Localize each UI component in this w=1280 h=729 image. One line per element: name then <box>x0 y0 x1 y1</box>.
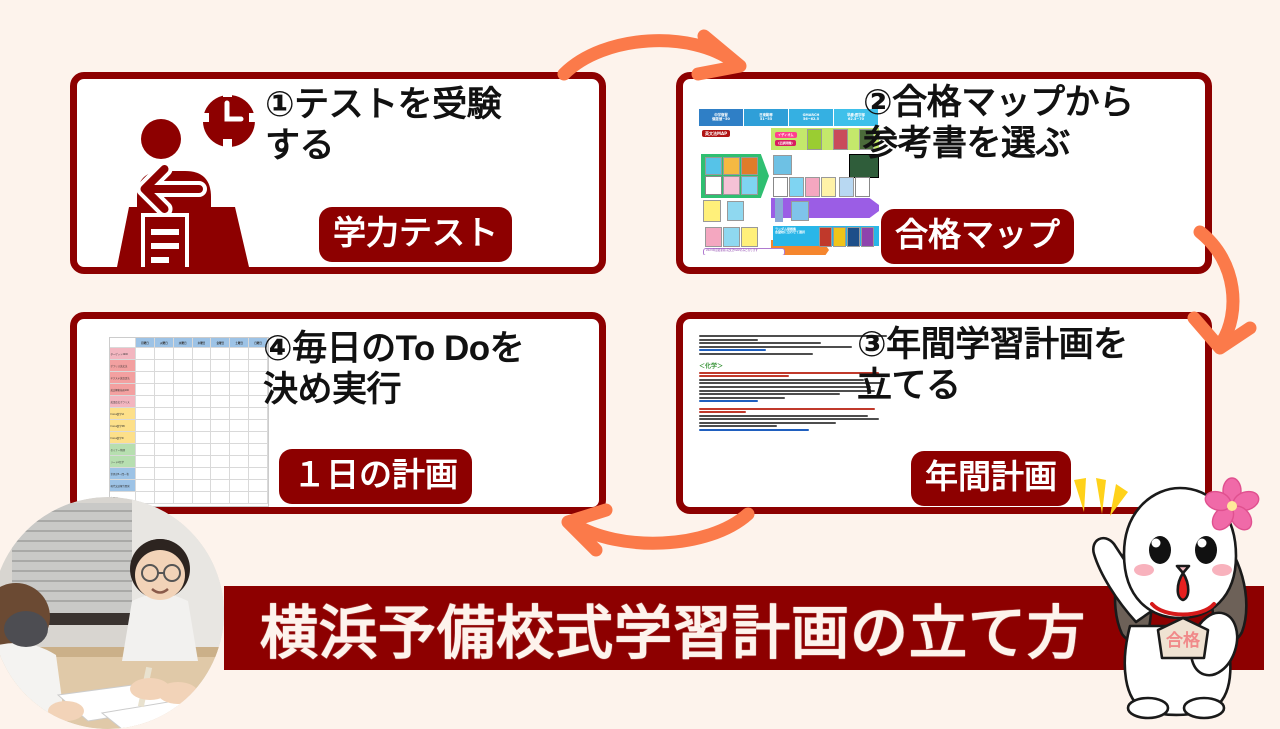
pass-map-book <box>773 155 792 175</box>
pass-map-book <box>705 227 722 247</box>
pass-map-book <box>705 157 722 175</box>
pass-map-book <box>703 200 721 222</box>
pass-map-book <box>861 227 874 247</box>
table-row: ポラリス英文法 <box>110 360 268 372</box>
pass-map-idiom-tag: イディオム <box>775 132 797 138</box>
poster-canvas: ①テストを受験 する 学力テスト 中学復習 偏差値~50 日東駒専 51~55 … <box>0 0 1280 720</box>
table-row: 現代文読解力開発 <box>110 480 268 492</box>
pass-map-arrow-purple <box>771 198 879 218</box>
table-row: セミナー物理 <box>110 444 268 456</box>
flow-arrow-top-right-icon <box>552 18 762 88</box>
pass-map-book <box>723 176 740 195</box>
pass-map-footer: 2023年度最新版・英文法MAPのみとなります <box>703 248 785 255</box>
ema-plaque-text: 合格 <box>1166 630 1201 650</box>
pass-map-column-1: 中学復習 偏差値~50 <box>699 109 744 126</box>
pass-map-book <box>791 201 809 221</box>
step-card-2-title: ②合格マップから 参考書を選ぶ <box>863 83 1203 164</box>
table-row: Focus数学III <box>110 432 268 444</box>
pass-map-book <box>839 177 854 197</box>
step-card-2[interactable]: 中学復習 偏差値~50 日東駒専 51~55 GMARCH 56~62.5 早慶… <box>676 72 1212 274</box>
table-row: 世界史B一問一答 <box>110 468 268 480</box>
pass-map-book <box>773 177 788 197</box>
rabbit-mascot: 合格 <box>1064 458 1280 720</box>
flow-arrow-bottom-left-icon <box>552 496 762 566</box>
pass-map-book <box>723 157 740 175</box>
pass-map-column-3: GMARCH 56~62.5 <box>789 109 834 126</box>
daily-plan-table-thumbnail[interactable]: 月曜日 火曜日 水曜日 木曜日 金曜日 土曜日 日曜日 ターゲット1900 ポラ… <box>109 337 269 507</box>
step-card-3-badge: 年間計画 <box>911 451 1071 506</box>
pass-map-student-icon <box>775 198 783 222</box>
table-row: 英文解釈技術100 <box>110 384 268 396</box>
step-card-1-badge: 学力テスト <box>319 207 512 262</box>
table-row: ターゲット1900 <box>110 348 268 360</box>
table-row: Focus数学IA <box>110 408 268 420</box>
pass-map-book <box>805 177 820 197</box>
pass-map-book <box>833 227 846 247</box>
pass-map-book <box>821 177 836 197</box>
pass-map-book <box>723 227 740 247</box>
exam-pictogram-icon <box>99 87 264 273</box>
pass-map-column-2: 日東駒専 51~55 <box>744 109 789 126</box>
step-card-4[interactable]: 月曜日 火曜日 水曜日 木曜日 金曜日 土曜日 日曜日 ターゲット1900 ポラ… <box>70 312 606 514</box>
step-card-4-badge: １日の計画 <box>279 449 472 504</box>
pass-map-book <box>741 157 758 175</box>
flow-arrow-right-down-icon <box>1180 218 1270 358</box>
pass-map-book <box>833 129 848 150</box>
pass-map-book <box>705 176 722 195</box>
pass-map-column-headers: 中学復習 偏差値~50 日東駒専 51~55 GMARCH 56~62.5 早慶… <box>699 109 879 126</box>
pass-map-book <box>727 201 744 221</box>
pass-map-body: イディオム (正誤問題) 英文法MAP <box>699 126 879 255</box>
pass-map-side-tag: 英文法MAP <box>702 130 730 137</box>
table-header-row: 月曜日 火曜日 水曜日 木曜日 金曜日 土曜日 日曜日 <box>110 338 268 348</box>
banner-title: 横浜予備校式学習計画の立て方 <box>260 586 1086 670</box>
pass-map-seigo-tag: (正誤問題) <box>775 140 796 146</box>
pass-map-book <box>819 227 832 247</box>
table-row: Focus数学IIB <box>110 420 268 432</box>
counseling-photo <box>0 497 224 729</box>
step-card-3-title: ③年間学習計画を 立てる <box>857 325 1207 406</box>
pass-map-book <box>847 227 860 247</box>
pass-map-book <box>855 177 870 197</box>
pass-map-book <box>741 227 758 247</box>
pass-map-book <box>807 129 822 150</box>
step-card-4-title: ④毎日のTo Doを 決め実行 <box>263 329 598 410</box>
pass-map-thumbnail[interactable]: 中学復習 偏差値~50 日東駒専 51~55 GMARCH 56~62.5 早慶… <box>699 109 879 255</box>
pass-map-book <box>741 176 758 195</box>
step-card-2-badge: 合格マップ <box>881 209 1074 264</box>
pass-map-book <box>789 177 804 197</box>
step-card-1[interactable]: ①テストを受験 する 学力テスト <box>70 72 606 274</box>
step-card-1-title: ①テストを受験 する <box>265 85 595 166</box>
table-row: リードα化学 <box>110 456 268 468</box>
table-row: ネクステ英語語法 <box>110 372 268 384</box>
table-row: 英語長文ポラリス <box>110 396 268 408</box>
